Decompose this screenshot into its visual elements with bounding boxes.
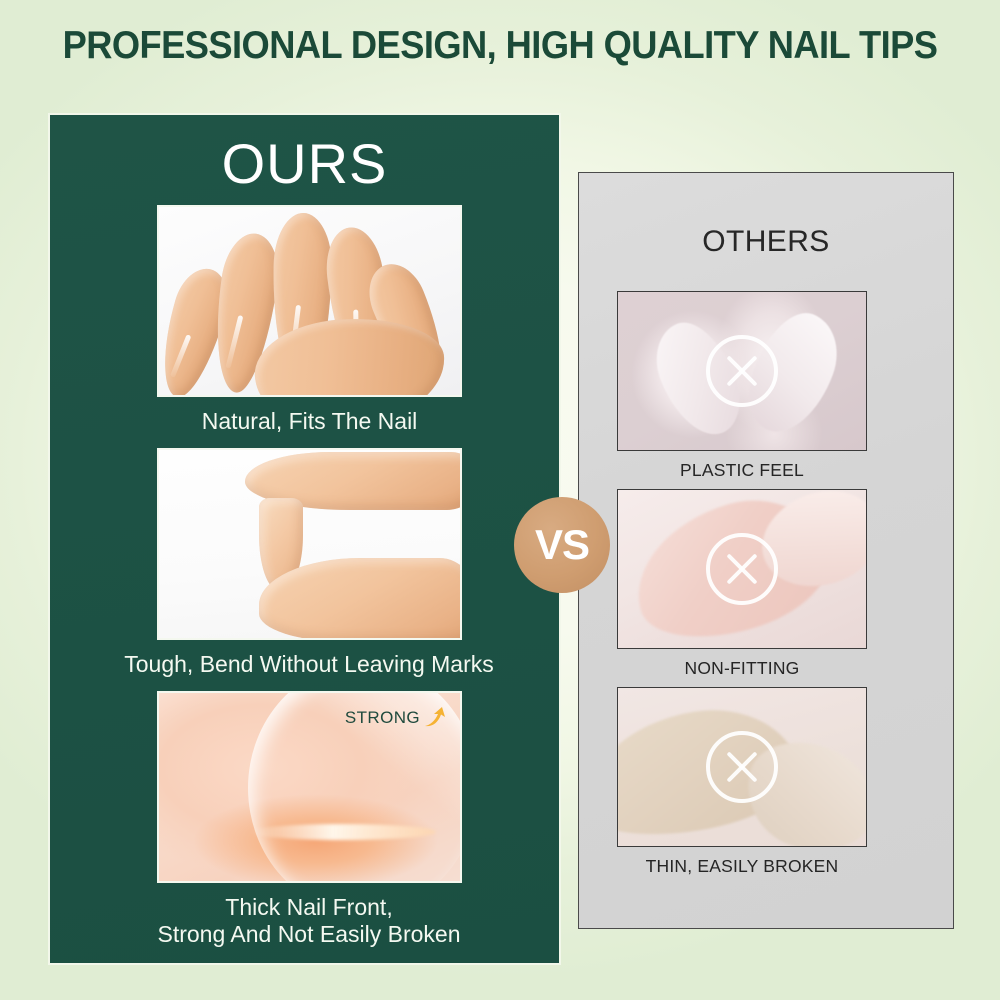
ours-caption-natural-fits: Natural, Fits The Nail: [157, 408, 462, 435]
others-image-plastic-feel: [617, 291, 867, 451]
ours-caption-thick-nail-front-line1: Thick Nail Front,: [59, 894, 559, 921]
x-circle-icon: [706, 731, 778, 803]
x-circle-icon: [706, 533, 778, 605]
page-title: PROFESSIONAL DESIGN, HIGH QUALITY NAIL T…: [35, 24, 965, 68]
vs-badge-label: VS: [535, 521, 589, 569]
strong-badge-label: STRONG: [345, 708, 420, 728]
ours-image-natural-fits: [157, 205, 462, 397]
others-panel: OTHERS PLASTIC FEEL NON-FITTING THIN, EA…: [578, 172, 954, 929]
x-circle-icon: [706, 335, 778, 407]
ours-image-thick-nail-front: STRONG: [157, 691, 462, 883]
ours-item-tough-bend: Tough, Bend Without Leaving Marks: [157, 448, 462, 678]
ours-caption-thick-nail-front-line2: Strong And Not Easily Broken: [59, 921, 559, 948]
ours-panel: OURS Natural, Fits The Nail: [48, 113, 561, 965]
others-caption-plastic-feel: PLASTIC FEEL: [617, 460, 867, 481]
nail-front-glow: [249, 824, 436, 840]
fingers-bending-nail-tip-photo: [159, 450, 460, 638]
poster-canvas: PROFESSIONAL DESIGN, HIGH QUALITY NAIL T…: [0, 0, 1000, 1000]
upward-arrow-icon: [422, 705, 448, 731]
others-caption-non-fitting: NON-FITTING: [617, 658, 867, 679]
ours-heading: OURS: [50, 131, 559, 196]
others-item-plastic-feel: PLASTIC FEEL: [617, 291, 867, 481]
ours-caption-tough-bend: Tough, Bend Without Leaving Marks: [59, 651, 559, 678]
vs-badge: VS: [514, 497, 610, 593]
ours-item-natural-fits: Natural, Fits The Nail: [157, 205, 462, 435]
strong-badge: STRONG: [345, 705, 448, 731]
ours-image-tough-bend: [157, 448, 462, 640]
others-item-thin-easily-broken: THIN, EASILY BROKEN: [617, 687, 867, 877]
others-heading: OTHERS: [579, 225, 953, 259]
ours-item-thick-nail-front: STRONG Thick Nail Front, Strong And Not …: [157, 691, 462, 948]
others-item-non-fitting: NON-FITTING: [617, 489, 867, 679]
others-image-non-fitting: [617, 489, 867, 649]
others-caption-thin-easily-broken: THIN, EASILY BROKEN: [617, 856, 867, 877]
others-image-thin-easily-broken: [617, 687, 867, 847]
hand-with-long-nude-almond-nails-photo: [159, 207, 460, 395]
